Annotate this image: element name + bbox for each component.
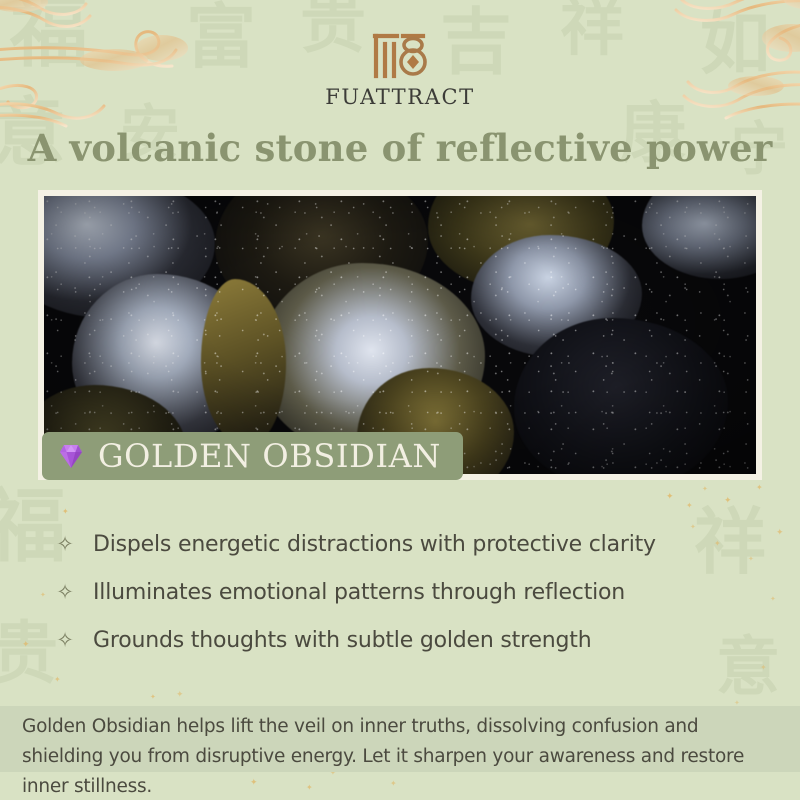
watermark-char: 贵 [0,620,58,688]
benefit-text: Illuminates emotional patterns through r… [93,580,625,605]
sparkle-icon: ✦ [724,496,732,505]
page-title: A volcanic stone of reflective power [0,126,800,170]
sparkle-bullet-icon: ✧ [55,630,75,651]
list-item: ✧ Illuminates emotional patterns through… [55,570,755,615]
sparkle-bullet-icon: ✧ [55,534,75,555]
poster-root: 福 富 贵 吉 祥 如 意 安 康 宁 福 祥 贵 意 [0,0,800,800]
sparkle-icon: ✦ [770,596,776,603]
footer-paragraph: Golden Obsidian helps lift the veil on i… [22,712,784,800]
brand-block: FUATTRACT [0,30,800,109]
sparkle-icon: ✦ [40,592,46,599]
list-item: ✧ Grounds thoughts with subtle golden st… [55,618,755,663]
sparkle-icon: ✦ [62,508,69,516]
brand-name: FUATTRACT [0,85,800,109]
sparkle-icon: ✦ [776,528,784,537]
sparkle-icon: ✦ [760,664,767,672]
stone-name-banner: GOLDEN OBSIDIAN [42,432,463,480]
sparkle-icon: ✦ [702,486,708,493]
stone-name-label: GOLDEN OBSIDIAN [98,440,441,472]
benefits-list: ✧ Dispels energetic distractions with pr… [55,522,755,666]
sparkle-bullet-icon: ✧ [55,582,75,603]
fuattract-monogram-icon [371,30,429,82]
sparkle-icon: ✦ [54,676,61,684]
sparkle-icon: ✦ [150,694,156,701]
benefit-text: Dispels energetic distractions with prot… [93,532,656,557]
sparkle-icon: ✦ [666,492,674,501]
sparkle-icon: ✦ [756,484,763,492]
sparkle-icon: ✦ [22,640,30,649]
gem-stone-icon [56,441,86,471]
benefit-text: Grounds thoughts with subtle golden stre… [93,628,591,653]
list-item: ✧ Dispels energetic distractions with pr… [55,522,755,567]
sparkle-icon: ✦ [176,690,184,699]
sparkle-icon: ✦ [686,502,693,510]
